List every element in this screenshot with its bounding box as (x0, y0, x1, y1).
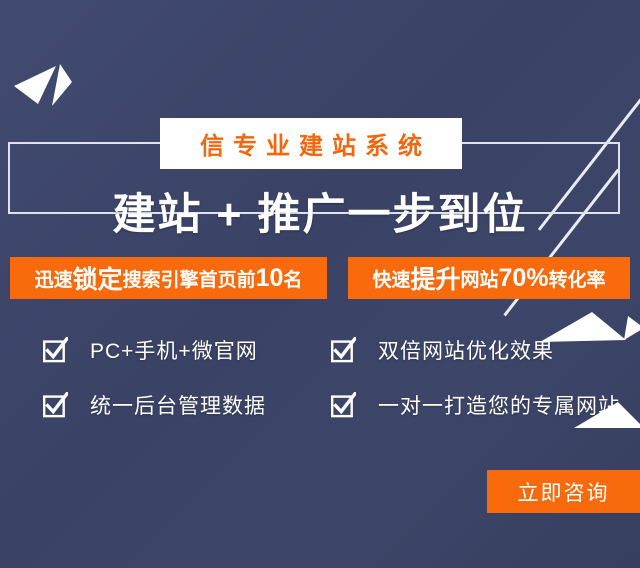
checkbox-checked-icon (330, 337, 356, 363)
page-title: 建站 + 推广一步到位 (0, 180, 640, 242)
feature-label: 统一后台管理数据 (90, 390, 266, 420)
strip-post-text: 搜索引擎首页前 (123, 265, 256, 292)
badge-box: 信专业建站系统 (160, 118, 462, 169)
strip-mid-text: 锁定 (73, 260, 123, 296)
strip-number: 10 (256, 264, 284, 293)
feature-item: 双倍网站优化效果 (330, 335, 554, 365)
strip-pre-text: 迅速 (35, 265, 73, 292)
highlight-strip-conversion: 快速 提升 网站 70% 转化率 (348, 257, 630, 299)
feature-item: PC+手机+微官网 (42, 335, 258, 365)
strip-post-text: 网站 (460, 265, 498, 292)
strip-suffix-text: 转化率 (549, 265, 606, 292)
paper-plane-icon (12, 52, 84, 108)
promo-banner: 信专业建站系统 建站 + 推广一步到位 迅速 锁定 搜索引擎首页前 10 名 快… (0, 0, 640, 568)
consult-now-button[interactable]: 立即咨询 (487, 470, 640, 513)
strip-pre-text: 快速 (372, 265, 410, 292)
feature-label: 一对一打造您的专属网站 (378, 390, 620, 420)
strip-mid-text: 提升 (410, 260, 460, 296)
feature-item: 统一后台管理数据 (42, 390, 266, 420)
checkbox-checked-icon (42, 392, 68, 418)
badge-label: 信专业建站系统 (191, 126, 431, 161)
checkbox-checked-icon (42, 337, 68, 363)
strip-number: 70% (498, 264, 548, 293)
strip-suffix-text: 名 (283, 265, 302, 292)
feature-label: PC+手机+微官网 (90, 335, 258, 365)
feature-item: 一对一打造您的专属网站 (330, 390, 620, 420)
paper-plane-icon (540, 306, 640, 358)
feature-label: 双倍网站优化效果 (378, 335, 554, 365)
highlight-strip-seo: 迅速 锁定 搜索引擎首页前 10 名 (10, 257, 327, 299)
checkbox-checked-icon (330, 392, 356, 418)
